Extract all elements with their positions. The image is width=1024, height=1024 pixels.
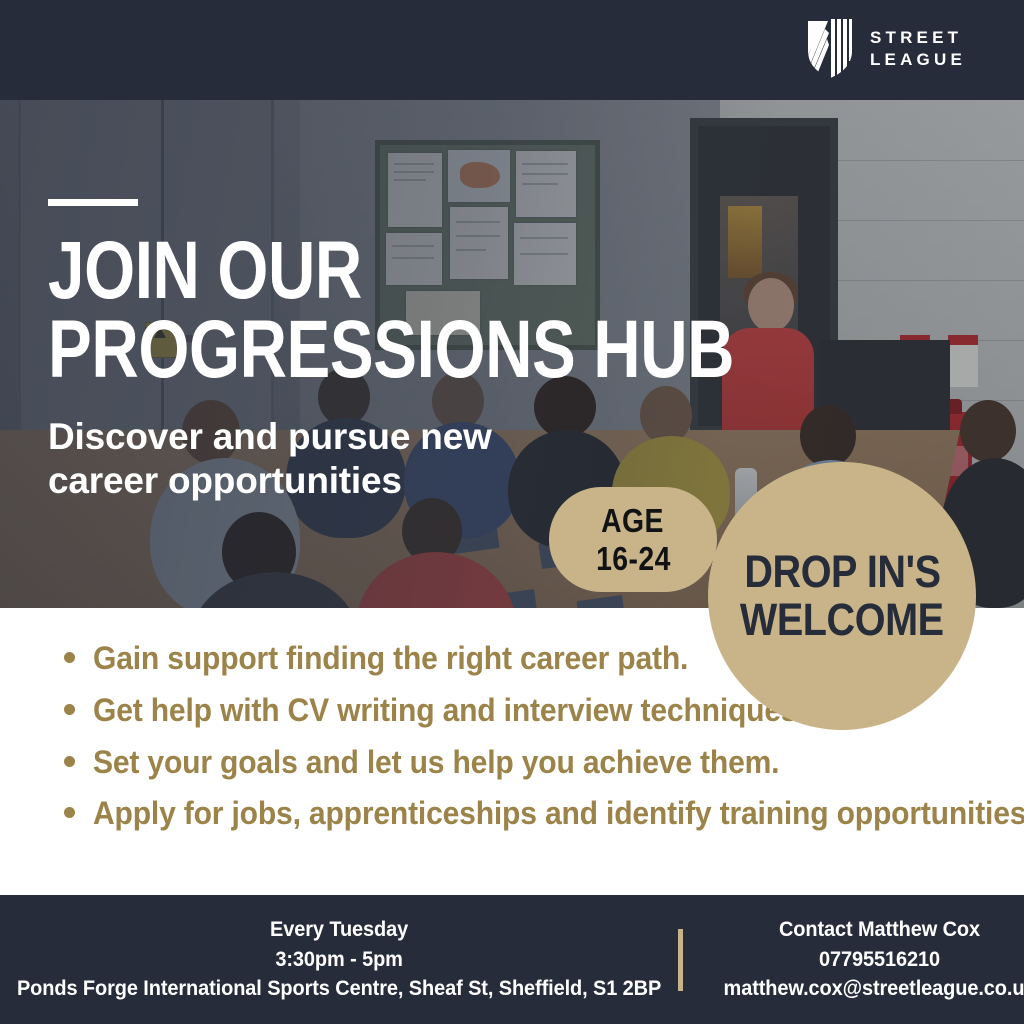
subhead-line-1: Discover and pursue new [48,415,906,459]
age-badge: AGE 16-24 [549,487,717,592]
schedule-time: 3:30pm - 5pm [17,945,661,975]
brand-logo: STREET LEAGUE [807,17,966,79]
drop-in-badge-line-2: WELCOME [740,597,944,643]
street-league-shield-icon [807,17,853,79]
contact-email[interactable]: matthew.cox@streetleague.co.uk [693,974,1024,1004]
header-bar: STREET LEAGUE [0,0,1024,100]
contact-phone[interactable]: 07795516210 [693,945,1024,975]
bullet-dot-icon [64,807,75,818]
footer-bar: Every Tuesday 3:30pm - 5pm Ponds Forge I… [0,895,1024,1024]
headline-line-1: JOIN OUR [48,232,734,311]
age-badge-line-2: 16-24 [596,541,671,577]
contact-name: Contact Matthew Cox [693,915,1024,945]
brand-wordmark: STREET LEAGUE [870,29,966,68]
benefit-text: Apply for jobs, apprenticeships and iden… [93,795,1024,833]
hero-text-block: JOIN OUR PROGRESSIONS HUB Discover and p… [48,100,906,503]
footer-schedule: Every Tuesday 3:30pm - 5pm Ponds Forge I… [0,915,678,1004]
bullet-dot-icon [64,704,75,715]
benefit-text: Gain support finding the right career pa… [93,640,688,678]
headline-line-2: PROGRESSIONS HUB [48,311,734,390]
venue-address: Ponds Forge International Sports Centre,… [17,974,661,1004]
brand-name-line2: LEAGUE [870,51,966,68]
bullet-dot-icon [64,756,75,767]
age-badge-line-1: AGE [602,503,665,539]
bullet-dot-icon [64,652,75,663]
list-item: Apply for jobs, apprenticeships and iden… [64,795,1024,833]
poster: STREET LEAGUE [0,0,1024,1024]
page-title: JOIN OUR PROGRESSIONS HUB [48,232,734,389]
footer-contact: Contact Matthew Cox 07795516210 matthew.… [683,915,1024,1004]
benefit-text: Get help with CV writing and interview t… [93,692,806,730]
list-item: Set your goals and let us help you achie… [64,744,1024,782]
brand-name-line1: STREET [870,29,966,46]
drop-in-badge: DROP IN'S WELCOME [708,462,976,730]
accent-rule [48,199,138,206]
benefit-text: Set your goals and let us help you achie… [93,744,779,782]
drop-in-badge-line-1: DROP IN'S [744,549,940,595]
schedule-day: Every Tuesday [17,915,661,945]
